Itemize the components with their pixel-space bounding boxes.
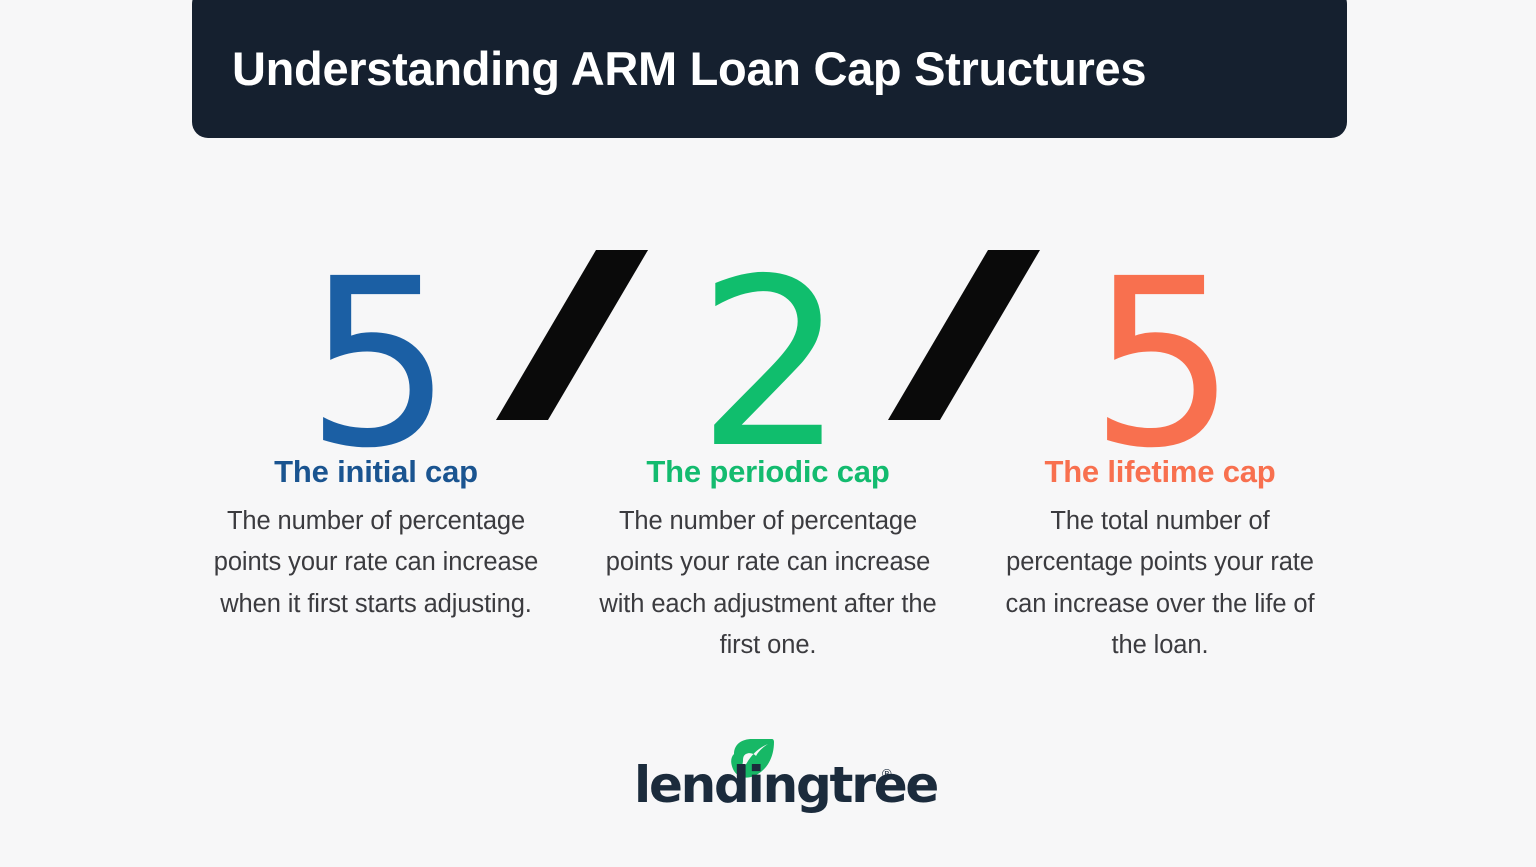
lendingtree-logo: lendingtree ®: [634, 738, 902, 816]
cap-numbers-row: 5 2 5: [0, 248, 1536, 438]
cap-heading-lifetime: The lifetime cap: [970, 455, 1350, 489]
cap-number-slot-periodic: 2: [670, 248, 866, 480]
cap-column-initial: The initial cap The number of percentage…: [180, 455, 572, 625]
cap-column-periodic: The periodic cap The number of percentag…: [572, 455, 964, 666]
cap-separator-slot-2: [866, 248, 1062, 420]
cap-separator-slot-1: [474, 248, 670, 420]
cap-descriptions-row: The initial cap The number of percentage…: [0, 455, 1536, 666]
cap-number-slot-lifetime: 5: [1062, 248, 1258, 480]
cap-column-lifetime: The lifetime cap The total number of per…: [964, 455, 1356, 666]
cap-heading-periodic: The periodic cap: [578, 455, 958, 489]
cap-number-initial: 5: [305, 248, 447, 480]
header-banner: Understanding ARM Loan Cap Structures: [192, 0, 1347, 138]
cap-heading-initial: The initial cap: [186, 455, 566, 489]
cap-number-periodic: 2: [697, 248, 839, 480]
cap-description-initial: The number of percentage points your rat…: [186, 501, 566, 625]
slash-separator-icon: [888, 250, 1040, 420]
footer-logo-area: lendingtree ®: [0, 738, 1536, 816]
registered-trademark-symbol: ®: [882, 766, 892, 781]
cap-description-periodic: The number of percentage points your rat…: [578, 501, 958, 666]
cap-number-lifetime: 5: [1089, 248, 1231, 480]
page-title: Understanding ARM Loan Cap Structures: [192, 31, 1146, 96]
cap-description-lifetime: The total number of percentage points yo…: [970, 501, 1350, 666]
cap-number-slot-initial: 5: [278, 248, 474, 480]
slash-separator-icon: [496, 250, 648, 420]
logo-wordmark: lendingtree: [634, 760, 902, 810]
